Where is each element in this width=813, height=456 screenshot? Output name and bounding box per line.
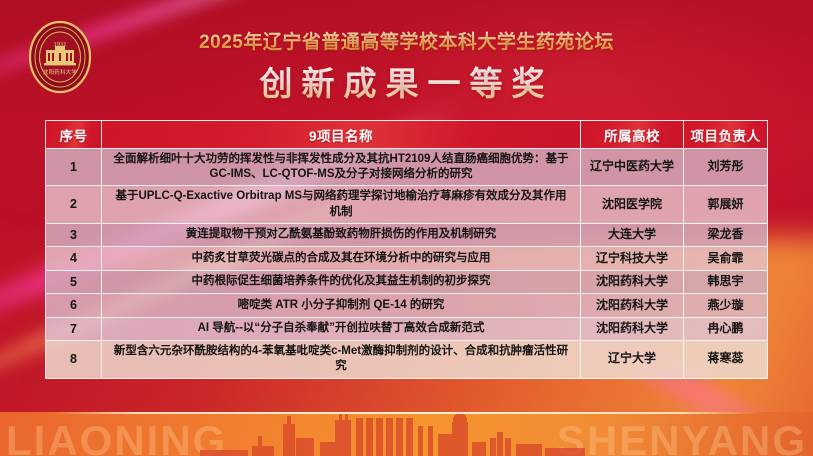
cell-index: 2 [46, 186, 102, 223]
page-title: 2025年辽宁省普通高等学校本科大学生药苑论坛 [0, 27, 813, 54]
table-row: 1 全面解析细叶十大功劳的挥发性与非挥发性成分及其抗HT2109人结直肠癌细胞优… [46, 149, 767, 186]
table-header-row: 序号 9项目名称 所属高校 项目负责人 [46, 121, 767, 149]
cell-project: 中药炙甘草荧光碳点的合成及其在环境分析中的研究与应用 [102, 247, 581, 271]
table-row: 6 嘧啶类 ATR 小分子抑制剂 QE-14 的研究 沈阳药科大学 燕少璇 [46, 294, 767, 318]
cell-index: 7 [46, 318, 102, 342]
cell-school: 大连大学 [581, 224, 684, 248]
cell-leader: 刘芳彤 [684, 149, 767, 186]
cell-project: 新型含六元杂环酰胺结构的4-苯氧基吡啶类c-Met激酶抑制剂的设计、合成和抗肿瘤… [102, 341, 581, 377]
table-row: 3 黄连提取物干预对乙酰氨基酚致药物肝损伤的作用及机制研究 大连大学 梁龙香 [46, 224, 767, 248]
cell-leader: 燕少璇 [684, 294, 767, 318]
cell-school: 辽宁中医药大学 [581, 149, 684, 186]
footer-divider [52, 412, 761, 414]
cell-project: 基于UPLC-Q-Exactive Orbitrap MS与网络药理学探讨地榆治… [102, 186, 581, 223]
cell-school: 辽宁科技大学 [581, 247, 684, 271]
column-header-project: 9项目名称 [102, 121, 581, 149]
cell-school: 沈阳医学院 [581, 186, 684, 223]
cell-leader: 吴俞霏 [684, 247, 767, 271]
cell-project: 黄连提取物干预对乙酰氨基酚致药物肝损伤的作用及机制研究 [102, 224, 581, 248]
cell-school: 沈阳药科大学 [581, 271, 684, 295]
cell-index: 8 [46, 341, 102, 377]
cell-leader: 郭展妍 [684, 186, 767, 223]
table-row: 4 中药炙甘草荧光碳点的合成及其在环境分析中的研究与应用 辽宁科技大学 吴俞霏 [46, 247, 767, 271]
cell-index: 5 [46, 271, 102, 295]
table-header: 序号 9项目名称 所属高校 项目负责人 [46, 121, 767, 149]
cell-index: 1 [46, 149, 102, 186]
cell-school: 沈阳药科大学 [581, 318, 684, 342]
column-header-index: 序号 [46, 121, 102, 149]
table-row: 2 基于UPLC-Q-Exactive Orbitrap MS与网络药理学探讨地… [46, 186, 767, 223]
cell-school: 沈阳药科大学 [581, 294, 684, 318]
cell-leader: 韩思宇 [684, 271, 767, 295]
cell-project: 全面解析细叶十大功劳的挥发性与非挥发性成分及其抗HT2109人结直肠癌细胞优势：… [102, 149, 581, 186]
cell-project: 中药根际促生细菌培养条件的优化及其益生机制的初步探究 [102, 271, 581, 295]
award-title: 创新成果一等奖 [0, 57, 813, 105]
table-row: 5 中药根际促生细菌培养条件的优化及其益生机制的初步探究 沈阳药科大学 韩思宇 [46, 271, 767, 295]
city-skyline-icon [0, 412, 813, 456]
cell-index: 3 [46, 224, 102, 248]
column-header-leader: 项目负责人 [684, 121, 767, 149]
table-row: 7 AI 导航--以“分子自杀奉献”开创拉呋替丁高效合成新范式 沈阳药科大学 冉… [46, 318, 767, 342]
cell-project: AI 导航--以“分子自杀奉献”开创拉呋替丁高效合成新范式 [102, 318, 581, 342]
cell-school: 辽宁大学 [581, 341, 684, 377]
footer-band: LIAONING SHENYANG [0, 412, 813, 456]
cell-project: 嘧啶类 ATR 小分子抑制剂 QE-14 的研究 [102, 294, 581, 318]
table-row: 8 新型含六元杂环酰胺结构的4-苯氧基吡啶类c-Met激酶抑制剂的设计、合成和抗… [46, 341, 767, 377]
column-header-school: 所属高校 [581, 121, 684, 149]
cell-index: 4 [46, 247, 102, 271]
award-table: 序号 9项目名称 所属高校 项目负责人 1 全面解析细叶十大功劳的挥发性与非挥发… [45, 120, 768, 379]
award-table-container: 序号 9项目名称 所属高校 项目负责人 1 全面解析细叶十大功劳的挥发性与非挥发… [45, 120, 768, 379]
cell-leader: 冉心鹏 [684, 318, 767, 342]
table-body: 1 全面解析细叶十大功劳的挥发性与非挥发性成分及其抗HT2109人结直肠癌细胞优… [46, 149, 767, 378]
cell-leader: 蒋寒蕊 [684, 341, 767, 377]
cell-leader: 梁龙香 [684, 224, 767, 248]
cell-index: 6 [46, 294, 102, 318]
slide-canvas: 1931 沈阳药科大学 2025年辽宁省普通高等学校本科大学生药苑论坛 创新成果… [0, 0, 813, 456]
